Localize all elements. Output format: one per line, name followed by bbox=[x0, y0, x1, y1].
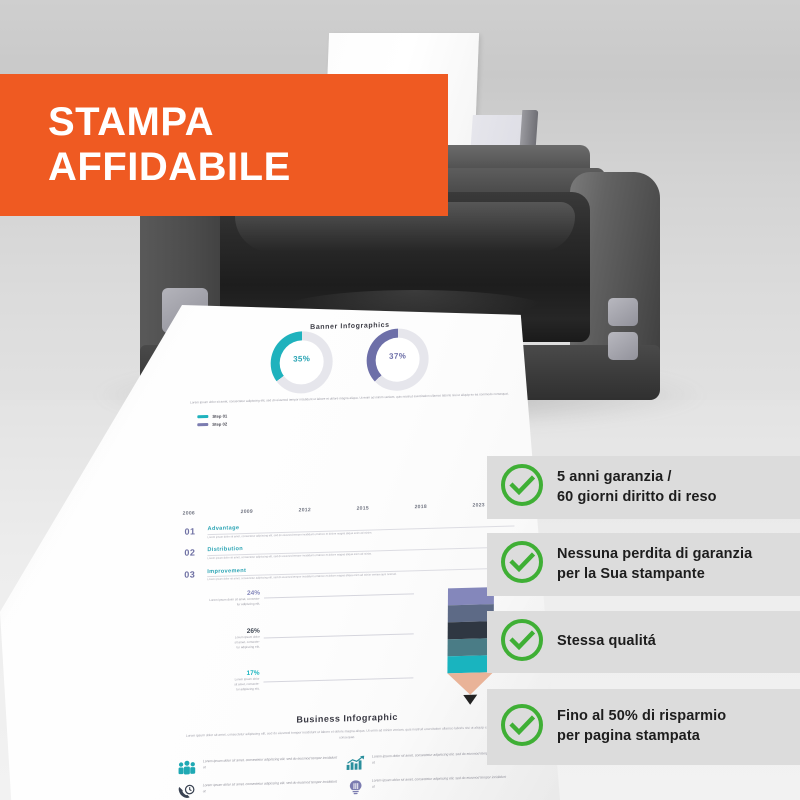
pencil-callout-1: 24% Lorem ipsum dolor sit amet, consecte… bbox=[174, 590, 260, 610]
donut-chart-group: 35% 37% bbox=[170, 337, 530, 385]
legend-swatch-purple bbox=[197, 423, 208, 426]
step-row-03: 03 Improvement Lorem ipsum dolor sit ame… bbox=[184, 560, 514, 584]
check-circle-icon bbox=[499, 539, 545, 590]
bar-group-2012 bbox=[299, 503, 341, 504]
x-tick-2015: 2015 bbox=[357, 505, 399, 512]
legend-label-step-02: Step 02 bbox=[212, 421, 227, 426]
donut-chart-2: 37% bbox=[367, 340, 429, 380]
x-tick-2018: 2018 bbox=[415, 503, 457, 510]
icon-cell-text-idea: Lorem ipsum dolor sit amet, consectetur … bbox=[372, 775, 509, 791]
lightbulb-icon bbox=[346, 779, 366, 796]
pencil-callout-text-3: Lorem ipsum dolor sit amet, consecte- tu… bbox=[159, 677, 259, 695]
page-intro-paragraph: Lorem ipsum dolor sit amet, consectetur … bbox=[181, 391, 517, 406]
feature-label-warranty-return: 5 anni garanzia / 60 giorni diritto di r… bbox=[557, 468, 717, 507]
business-infographic-paragraph: Lorem ipsum dolor sit amet, consectetur … bbox=[185, 725, 509, 746]
feature-label-same-quality: Stessa qualitá bbox=[557, 632, 656, 652]
bar-group-2006 bbox=[183, 506, 225, 507]
x-tick-2012: 2012 bbox=[299, 506, 341, 513]
feature-label-savings: Fino al 50% di risparmio per pagina stam… bbox=[557, 707, 726, 746]
donut-value-2: 37% bbox=[367, 351, 429, 362]
callout-line-2 bbox=[264, 633, 414, 638]
people-group-icon bbox=[177, 759, 197, 776]
icon-cell-people: Lorem ipsum dolor sit amet, consectetur … bbox=[177, 755, 340, 776]
headline-banner: STAMPA AFFIDABILE bbox=[0, 74, 448, 216]
page-content: Banner Infographics 35% 37% Lorem ipsum … bbox=[167, 306, 530, 796]
bar-group-2009 bbox=[241, 505, 283, 506]
pencil-lead bbox=[463, 695, 477, 705]
headline-text: STAMPA AFFIDABILE bbox=[48, 100, 291, 190]
step-row-01: 01 Advantage Lorem ipsum dolor sit amet,… bbox=[184, 517, 514, 541]
growth-chart-icon bbox=[346, 755, 366, 772]
phone-clock-icon bbox=[177, 783, 197, 800]
step-number-02: 02 bbox=[184, 548, 200, 558]
feature-label-no-warranty-loss: Nessuna perdita di garanzia per la Sua s… bbox=[557, 545, 752, 584]
pencil-callout-2: 26% Lorem ipsum dolor sit amet, consecte… bbox=[168, 628, 260, 653]
printer-control-button-2 bbox=[608, 332, 638, 360]
bar-group-2015 bbox=[357, 502, 399, 503]
callout-line-1 bbox=[264, 593, 414, 598]
step-number-03: 03 bbox=[184, 569, 200, 579]
pencil-callout-text-2: Lorem ipsum dolor sit amet, consecte- tu… bbox=[168, 635, 260, 653]
legend-swatch-teal bbox=[197, 415, 208, 418]
donut-chart-1: 35% bbox=[271, 342, 333, 382]
x-tick-2006: 2006 bbox=[183, 509, 225, 516]
check-circle-icon bbox=[499, 462, 545, 513]
poster-canvas: Banner Infographics 35% 37% Lorem ipsum … bbox=[0, 0, 800, 800]
feature-box-warranty-return[interactable]: 5 anni garanzia / 60 giorni diritto di r… bbox=[487, 456, 800, 519]
pencil-callout-text-1: Lorem ipsum dolor sit amet, consecte- tu… bbox=[174, 597, 260, 610]
feature-box-no-warranty-loss[interactable]: Nessuna perdita di garanzia per la Sua s… bbox=[487, 533, 800, 596]
legend-label-step-01: Step 01 bbox=[212, 414, 227, 419]
bar-chart bbox=[183, 422, 515, 507]
step-number-01: 01 bbox=[185, 526, 201, 536]
step-row-02: 02 Distribution Lorem ipsum dolor sit am… bbox=[184, 539, 514, 563]
printed-output-page: Banner Infographics 35% 37% Lorem ipsum … bbox=[0, 305, 560, 800]
check-circle-icon bbox=[499, 702, 545, 753]
callout-line-3 bbox=[263, 677, 413, 682]
icon-cell-text-people: Lorem ipsum dolor sit amet, consectetur … bbox=[203, 755, 340, 771]
numbered-step-list: 01 Advantage Lorem ipsum dolor sit amet,… bbox=[184, 517, 514, 583]
pencil-infographic: 24% Lorem ipsum dolor sit amet, consecte… bbox=[167, 582, 528, 712]
pencil-callout-3: 17% Lorem ipsum dolor sit amet, consecte… bbox=[159, 670, 259, 695]
x-tick-2009: 2009 bbox=[241, 508, 283, 515]
icon-cell-text-phone: Lorem ipsum dolor sit amet, consectetur … bbox=[203, 779, 340, 795]
check-circle-icon bbox=[499, 617, 545, 668]
feature-box-same-quality[interactable]: Stessa qualitá bbox=[487, 611, 800, 673]
page-title: Banner Infographics bbox=[170, 318, 530, 335]
bar-group-2018 bbox=[415, 500, 457, 501]
feature-box-savings[interactable]: Fino al 50% di risparmio per pagina stam… bbox=[487, 689, 800, 765]
icon-cell-growth: Lorem ipsum dolor sit amet, consectetur … bbox=[346, 751, 509, 772]
donut-value-1: 35% bbox=[271, 353, 333, 364]
printer-control-button-1 bbox=[608, 298, 638, 326]
